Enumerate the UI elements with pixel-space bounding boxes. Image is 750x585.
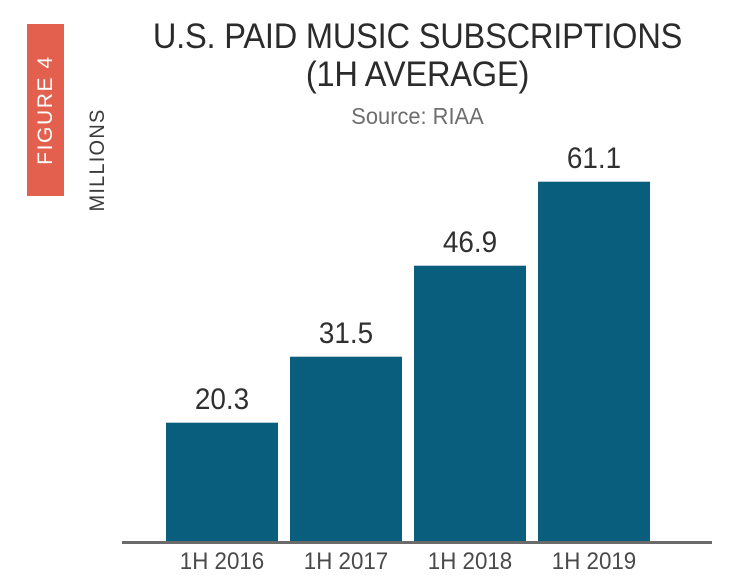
bar-rect — [290, 356, 402, 543]
x-axis-tick-labels: 1H 20161H 20171H 20181H 2019 — [122, 548, 712, 584]
bar-value-label: 61.1 — [542, 142, 646, 176]
chart-title-line-1: U.S. PAID MUSIC SUBSCRIPTIONS — [153, 17, 682, 56]
bar-rect — [538, 181, 650, 543]
bar-value-label: 31.5 — [294, 317, 398, 351]
x-tick-label: 1H 2019 — [542, 548, 646, 576]
chart-header: U.S. PAID MUSIC SUBSCRIPTIONS (1H AVERAG… — [95, 18, 740, 130]
bar-rect — [414, 265, 526, 543]
bar-value-label: 20.3 — [170, 383, 274, 417]
chart-title: U.S. PAID MUSIC SUBSCRIPTIONS (1H AVERAG… — [118, 18, 718, 94]
chart-title-line-2: (1H AVERAGE) — [118, 56, 718, 94]
bar-1h-2019[interactable]: 61.1 — [538, 150, 650, 543]
x-tick-label: 1H 2018 — [418, 548, 522, 576]
bar-1h-2018[interactable]: 46.9 — [414, 150, 526, 543]
chart-source-subtitle: Source: RIAA — [111, 103, 724, 130]
bar-1h-2017[interactable]: 31.5 — [290, 150, 402, 543]
x-axis-line — [122, 541, 712, 544]
bar-value-label: 46.9 — [418, 226, 522, 260]
bar-rect — [166, 422, 278, 543]
figure-number-label: FIGURE 4 — [34, 55, 58, 165]
x-tick-label: 1H 2016 — [170, 548, 274, 576]
plot-area: 20.331.546.961.1 — [122, 150, 712, 544]
bar-1h-2016[interactable]: 20.3 — [166, 150, 278, 543]
y-axis-title: MILLIONS — [86, 65, 110, 255]
figure-number-tab: FIGURE 4 — [27, 24, 64, 196]
x-tick-label: 1H 2017 — [294, 548, 398, 576]
bar-series: 20.331.546.961.1 — [122, 150, 712, 543]
figure-container: FIGURE 4 U.S. PAID MUSIC SUBSCRIPTIONS (… — [0, 0, 750, 585]
